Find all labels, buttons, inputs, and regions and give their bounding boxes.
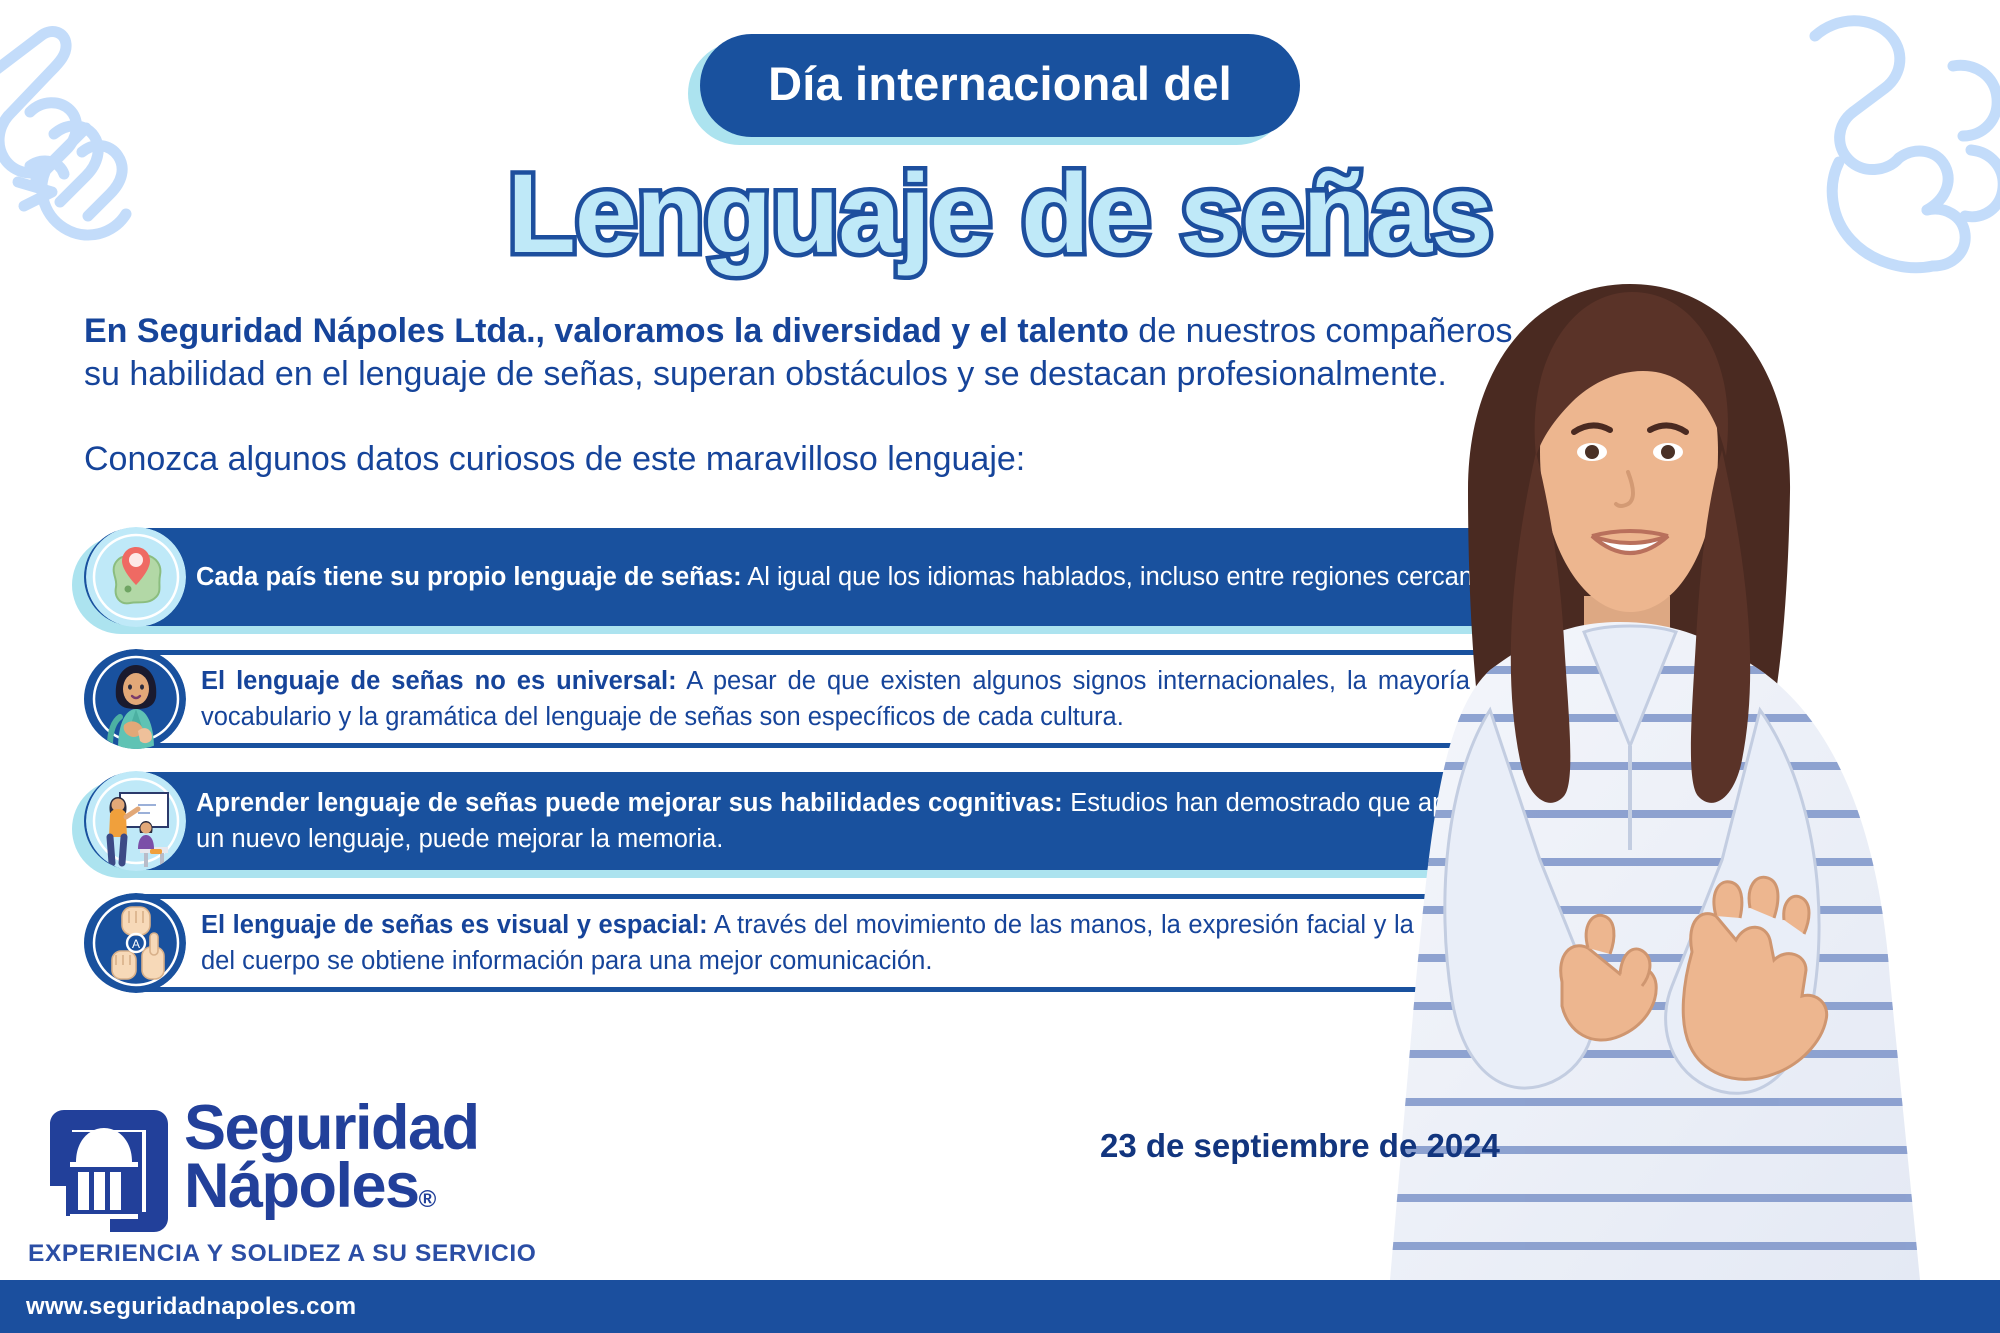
card-text: Cada país tiene su propio lenguaje de se… <box>196 559 1507 595</box>
fact-card: Cada país tiene su propio lenguaje de se… <box>84 528 1554 626</box>
website-url[interactable]: www.seguridadnapoles.com <box>26 1293 356 1321</box>
logo-line-2-text: Nápoles <box>184 1151 419 1221</box>
intro-paragraph: En Seguridad Nápoles Ltda., valoramos la… <box>84 310 1684 396</box>
page-title: Lenguaje de señas <box>0 155 2000 273</box>
card-text: El lenguaje de señas no es universal: A … <box>201 663 1515 735</box>
card-text: El lenguaje de señas es visual y espacia… <box>201 907 1515 979</box>
poster-header: Día internacional del Lenguaje de señas <box>0 0 2000 273</box>
registered-mark: ® <box>419 1186 435 1213</box>
card-heading: Aprender lenguaje de señas puede mejorar… <box>196 789 1063 817</box>
classroom-teaching-icon <box>86 771 186 871</box>
logo-line-1: Seguridad <box>184 1100 479 1158</box>
card-heading: El lenguaje de señas es visual y espacia… <box>201 911 708 939</box>
svg-text:A: A <box>132 937 140 951</box>
footer-bar: www.seguridadnapoles.com <box>0 1280 2000 1333</box>
map-pin-icon <box>86 527 186 627</box>
kicker-label: Día internacional del <box>700 34 1300 137</box>
hand-signs-icon: A <box>86 893 186 993</box>
fact-card: Aprender lenguaje de señas puede mejorar… <box>84 772 1554 870</box>
building-mark-icon <box>36 1100 176 1245</box>
card-body: Aprender lenguaje de señas puede mejorar… <box>84 772 1554 870</box>
logo-tagline: EXPERIENCIA Y SOLIDEZ A SU SERVICIO <box>28 1240 536 1280</box>
card-body: El lenguaje de señas no es universal: A … <box>84 650 1554 748</box>
fact-card-list: Cada país tiene su propio lenguaje de se… <box>84 528 1554 1016</box>
event-date: 23 de septiembre de 2024 <box>1100 1127 1500 1165</box>
card-detail: Al igual que los idiomas hablados, inclu… <box>742 563 1507 591</box>
card-heading: Cada país tiene su propio lenguaje de se… <box>196 563 742 591</box>
woman-signing-icon <box>86 649 186 749</box>
fact-card: El lenguaje de señas es visual y espacia… <box>84 894 1554 992</box>
kicker-badge: Día internacional del <box>700 34 1300 137</box>
fact-card: El lenguaje de señas no es universal: A … <box>84 650 1554 748</box>
card-heading: El lenguaje de señas no es universal: <box>201 667 677 695</box>
card-body: El lenguaje de señas es visual y espacia… <box>84 894 1554 992</box>
company-logo: Seguridad Nápoles® <box>36 1100 479 1245</box>
intro-lead: En Seguridad Nápoles Ltda., valoramos la… <box>84 312 1129 350</box>
logo-wordmark: Seguridad Nápoles® <box>184 1100 479 1216</box>
card-body: Cada país tiene su propio lenguaje de se… <box>84 528 1554 626</box>
card-text: Aprender lenguaje de señas puede mejorar… <box>196 785 1520 857</box>
logo-line-2: Nápoles® <box>184 1158 479 1216</box>
intro-subtitle: Conozca algunos datos curiosos de este m… <box>84 440 1384 479</box>
